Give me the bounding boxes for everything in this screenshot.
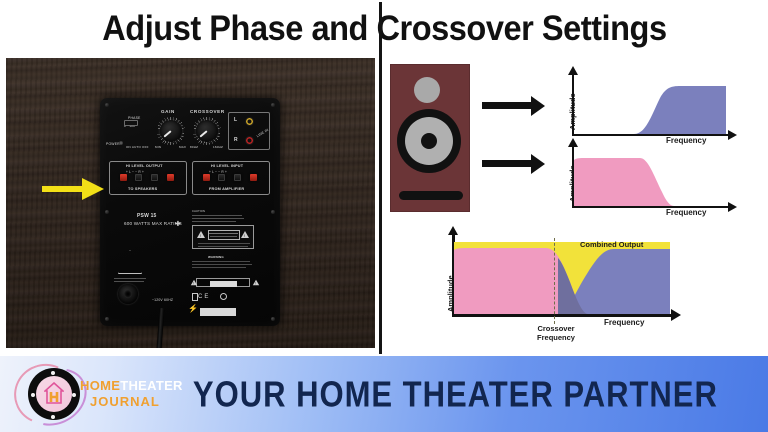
- amp-terminal-black-r[interactable]: [234, 174, 241, 181]
- line-in-box: L R Line In: [228, 112, 270, 150]
- serial-label: [200, 308, 236, 316]
- logo-house-h-icon: [44, 382, 64, 404]
- warning-triangle-icon: [197, 231, 205, 238]
- caution-title: CAUTION: [192, 210, 205, 213]
- screw-icon: [271, 210, 275, 214]
- amplifier-plate: Phase 0° 180° Power On Auto Off GAIN Min…: [100, 98, 280, 326]
- weee-bin-icon: [192, 293, 198, 301]
- speaker-terminal-black-l[interactable]: [135, 174, 142, 181]
- warning-triangle-icon: [191, 280, 197, 286]
- footer-tagline: Your Home Theater Partner: [177, 373, 759, 414]
- chart-high-pass: Amplitude Frequency: [554, 68, 754, 146]
- sticker-line: [114, 278, 146, 279]
- certification-marks: CE: [198, 294, 210, 300]
- phase-switch[interactable]: [124, 120, 138, 126]
- combined-output-annotation: Combined Output: [580, 240, 643, 249]
- hi-level-output-caption: To Speakers: [128, 187, 157, 191]
- caution-strip-inner: [210, 281, 237, 287]
- hi-level-output-polarity: + L − − R +: [126, 170, 144, 174]
- warning-title: WARNING: [208, 255, 224, 259]
- crossover-min-label: 80Hz: [190, 145, 198, 149]
- crossover-knob[interactable]: [196, 120, 218, 142]
- hi-level-output-title: Hi Level Output: [126, 164, 163, 168]
- logo-screw-dot: [51, 415, 55, 419]
- vertical-divider: [379, 2, 382, 354]
- logo-screw-dot: [31, 393, 35, 397]
- line-in-title: Line In: [256, 128, 269, 138]
- caution-strip: [196, 278, 250, 287]
- page-title-text: Adjust Phase and Crossover Settings: [102, 9, 666, 49]
- screenshot-root: Adjust Phase and Crossover Settings Phas…: [0, 0, 768, 432]
- line-in-left-label: L: [234, 117, 237, 123]
- hi-level-input-title: Hi Level Input: [211, 164, 243, 168]
- chart-combined-xlabel: Frequency: [604, 318, 644, 327]
- model-label: PSW 15: [137, 213, 157, 219]
- caution-badge-line: [210, 236, 237, 237]
- screw-icon: [271, 103, 275, 107]
- line-in-right-label: R: [234, 137, 238, 143]
- logo-screw-dot: [72, 393, 76, 397]
- amp-terminal-black-l[interactable]: [218, 174, 225, 181]
- yellow-pointer-arrow: [42, 178, 106, 200]
- hi-level-input-polarity: + L − − R +: [209, 170, 227, 174]
- logo-word-theater: THEATER: [120, 378, 183, 393]
- caution-badge-line: [209, 233, 238, 234]
- caution-badge: [192, 225, 254, 249]
- recycle-icon: [220, 293, 227, 300]
- warning-text-line: [192, 267, 246, 268]
- arrow-to-highpass-chart: [482, 102, 532, 109]
- gain-knob[interactable]: [160, 120, 182, 142]
- amp-terminal-red-l[interactable]: [203, 174, 210, 181]
- hi-level-output-box: Hi Level Output + L − − R + To Speakers: [109, 161, 187, 195]
- mains-label: ~120V 60Hz: [152, 298, 173, 302]
- caution-badge-line: [198, 246, 248, 247]
- screw-icon: [271, 317, 275, 321]
- speaker-terminal-red-r[interactable]: [167, 174, 174, 181]
- screw-icon: [105, 210, 109, 214]
- shock-hazard-icon: [118, 250, 142, 274]
- gain-label: GAIN: [161, 109, 175, 114]
- caution-badge-line: [198, 243, 250, 244]
- crossover-max-label: 160Hz: [213, 145, 223, 149]
- high-pass-curve: [574, 74, 726, 134]
- chart-low-pass-xlabel: Frequency: [666, 208, 706, 217]
- rca-jack-left[interactable]: [245, 117, 254, 126]
- chart-low-pass: Amplitude Frequency: [554, 140, 754, 218]
- power-inlet-jack[interactable]: [118, 284, 138, 304]
- footer-banner: HOMETHEATER JOURNAL Your Home Theater Pa…: [0, 356, 768, 432]
- speaker-terminal-red-l[interactable]: [120, 174, 127, 181]
- low-pass-curve: [574, 146, 726, 206]
- warning-text-line: [192, 261, 250, 262]
- crossover-diagram-panel: Amplitude Frequency Amplitude Frequency …: [386, 58, 768, 354]
- caution-badge-inner: [208, 230, 240, 240]
- x-axis: [452, 314, 674, 317]
- sticker-line: [114, 281, 144, 282]
- arrow-to-lowpass-chart: [482, 160, 532, 167]
- x-axis-arrowhead: [728, 202, 737, 212]
- crossover-frequency-marker: [554, 238, 555, 324]
- speaker-illustration: [390, 64, 470, 212]
- brand-logo[interactable]: HOMETHEATER JOURNAL: [0, 356, 168, 432]
- x-axis-arrowhead: [728, 130, 737, 140]
- chart-combined: Amplitude Combined Output CrossoverFrequ…: [424, 226, 714, 346]
- screw-icon: [105, 103, 109, 107]
- hi-level-input-box: Hi Level Input + L − − R + From Amplifie…: [192, 161, 270, 195]
- warning-triangle-icon: [241, 231, 249, 238]
- amp-terminal-red-r[interactable]: [250, 174, 257, 181]
- logo-screw-dot: [51, 371, 55, 375]
- power-led-icon: [119, 141, 123, 145]
- caution-text-line: [192, 221, 236, 222]
- bass-port: [399, 191, 463, 200]
- page-title: Adjust Phase and Crossover Settings: [0, 0, 768, 58]
- power-rating-label: 600 Watts MAX rating: [124, 221, 182, 226]
- warning-text-line: [192, 264, 252, 265]
- woofer-dust-cap: [421, 133, 437, 149]
- gain-max-label: Max: [179, 145, 186, 149]
- lightning-bolt-icon: ⚡: [188, 304, 198, 313]
- subwoofer-panel-photo: Phase 0° 180° Power On Auto Off GAIN Min…: [6, 58, 375, 348]
- y-axis-arrowhead: [448, 226, 458, 235]
- gain-min-label: Min: [155, 145, 161, 149]
- hi-level-input-caption: From Amplifier: [209, 187, 244, 191]
- screw-icon: [105, 317, 109, 321]
- logo-word-home: HOME: [80, 378, 120, 393]
- caution-text-line: [192, 215, 242, 216]
- arrow-head-icon: [82, 178, 104, 200]
- logo-word-journal: JOURNAL: [90, 394, 160, 409]
- rca-jack-right[interactable]: [245, 136, 254, 145]
- crossover-frequency-annotation: CrossoverFrequency: [520, 324, 592, 342]
- power-options-label[interactable]: On Auto Off: [126, 145, 149, 149]
- crossover-label: CROSSOVER: [190, 109, 225, 114]
- tweeter-driver: [414, 77, 440, 103]
- speaker-terminal-black-r[interactable]: [151, 174, 158, 181]
- caution-text-line: [192, 218, 244, 219]
- x-axis-arrowhead: [671, 309, 681, 321]
- warning-triangle-icon: [253, 280, 259, 286]
- fan-vent-icon: ✚: [175, 220, 181, 228]
- power-label: Power: [106, 142, 120, 146]
- logo-text-line1: HOMETHEATER: [80, 378, 183, 393]
